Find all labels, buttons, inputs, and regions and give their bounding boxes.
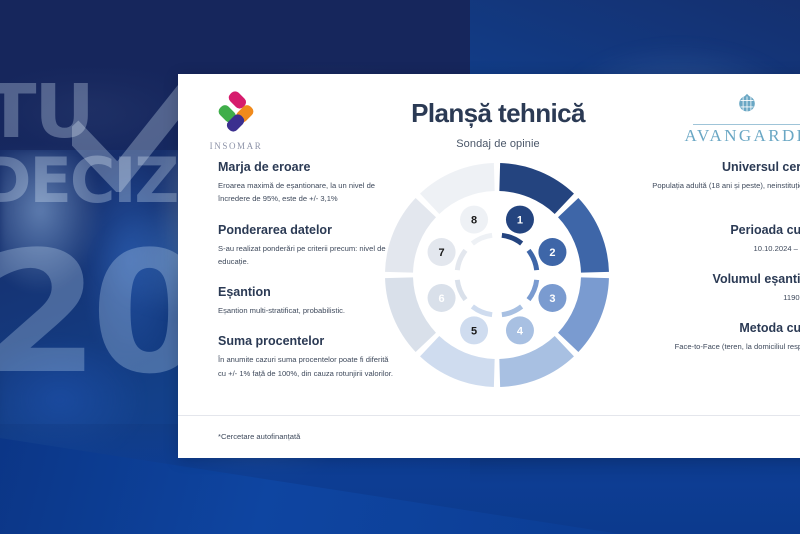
donut-segment-6[interactable] — [385, 277, 436, 352]
fact-body: Face-to-Face (teren, la domiciliul respo… — [648, 340, 800, 353]
page-title: Planșă tehnică — [178, 98, 800, 129]
fact-heading: Perioada culegerii — [648, 223, 800, 237]
card-title-block: Planșă tehnică Sondaj de opinie — [178, 98, 800, 150]
fact-item: Metoda culegerii Face-to-Face (teren, la… — [648, 321, 800, 353]
donut-bullet-label-6: 6 — [439, 293, 445, 305]
fact-item: Volumul eșantionului 1190 de subiecți — [648, 272, 800, 304]
donut-inner-arc-1 — [502, 235, 522, 243]
technical-sheet-card: INSOMAR AVANGARDE Planșă tehnică Sondaj … — [178, 74, 800, 458]
fact-body: 1190 de subiecți — [648, 291, 800, 304]
fact-heading: Metoda culegerii — [648, 321, 800, 335]
donut-inner-arc-6 — [457, 280, 465, 300]
donut-bullet-label-2: 2 — [549, 247, 555, 259]
fact-heading: Eșantion — [218, 285, 396, 299]
donut-segment-8[interactable] — [420, 163, 495, 214]
background-text-line2: DECIZI — [0, 152, 198, 209]
fact-item: Perioada culegerii 10.10.2024 – 20.10.20… — [648, 223, 800, 255]
fact-body: Eșantion multi-stratificat, probabilisti… — [218, 304, 396, 317]
right-fact-column: Universul cercetării Populația adultă (1… — [648, 160, 800, 370]
donut-segment-3[interactable] — [558, 277, 609, 352]
fact-heading: Ponderarea datelor — [218, 223, 396, 237]
donut-segment-5[interactable] — [420, 336, 495, 387]
fact-item: Universul cercetării Populația adultă (1… — [648, 160, 800, 206]
footnote-text: *Cercetare autofinanțată — [218, 432, 300, 441]
donut-bullet-label-4: 4 — [517, 325, 524, 337]
background-text-line1: TU — [0, 78, 93, 146]
donut-segment-4[interactable] — [499, 336, 574, 387]
donut-inner-arc-8 — [472, 235, 492, 243]
page-subtitle: Sondaj de opinie — [178, 138, 800, 150]
footnote-divider — [178, 415, 800, 416]
fact-item: Marja de eroare Eroarea maximă de eșanti… — [218, 160, 396, 206]
donut-bullet-label-8: 8 — [471, 215, 477, 227]
donut-chart-svg: 12345678 — [382, 160, 612, 390]
donut-bullet-label-1: 1 — [517, 215, 523, 227]
fact-body: Eroarea maximă de eșantionare, la un niv… — [218, 179, 396, 206]
donut-bullet-label-3: 3 — [549, 293, 555, 305]
donut-bullet-label-7: 7 — [439, 247, 445, 259]
fact-heading: Suma procentelor — [218, 334, 396, 348]
donut-inner-arc-4 — [502, 307, 522, 315]
donut-segment-2[interactable] — [558, 198, 609, 273]
fact-heading: Universul cercetării — [648, 160, 800, 174]
donut-bullet-label-5: 5 — [471, 325, 477, 337]
fact-heading: Marja de eroare — [218, 160, 396, 174]
donut-chart: 12345678 — [382, 160, 612, 390]
fact-body: În anumite cazuri suma procentelor poate… — [218, 353, 396, 380]
fact-body: 10.10.2024 – 20.10.2024 — [648, 242, 800, 255]
fact-item: Suma procentelor În anumite cazuri suma … — [218, 334, 396, 380]
donut-segment-7[interactable] — [385, 198, 436, 273]
donut-segment-1[interactable] — [499, 163, 574, 214]
donut-inner-arc-7 — [457, 250, 465, 270]
fact-item: Eșantion Eșantion multi-stratificat, pro… — [218, 285, 396, 317]
donut-inner-arc-2 — [529, 250, 537, 270]
left-fact-column: Marja de eroare Eroarea maximă de eșanti… — [218, 160, 396, 397]
donut-inner-arc-5 — [472, 307, 492, 315]
fact-heading: Volumul eșantionului — [648, 272, 800, 286]
donut-inner-arc-3 — [529, 280, 537, 300]
fact-body: S-au realizat ponderări pe criterii prec… — [218, 242, 396, 269]
fact-body: Populația adultă (18 ani și peste), nein… — [648, 179, 800, 206]
fact-item: Ponderarea datelor S-au realizat ponderă… — [218, 223, 396, 269]
